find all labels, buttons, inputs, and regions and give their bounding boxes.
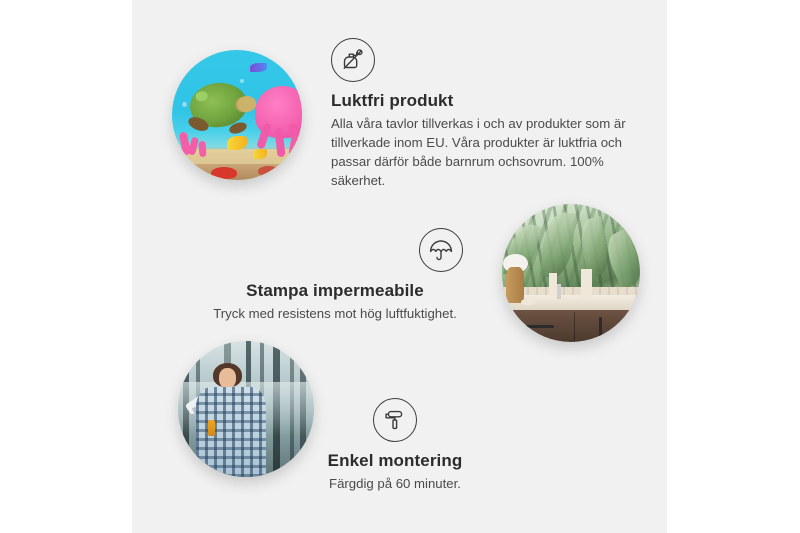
person-plaid-shirt (196, 387, 267, 477)
crab-icon (258, 166, 279, 176)
umbrella-icon (419, 228, 463, 272)
bubble-icon (240, 79, 244, 83)
feature-body: Tryck med resistens mot hög luftfuktighe… (205, 305, 465, 324)
cabinet-handle (599, 317, 602, 338)
soap-dish (521, 299, 536, 305)
paint-roller-icon (373, 398, 417, 442)
person-tool (208, 420, 215, 436)
feature-body: Alla våra tavlor tillverkas i och av pro… (331, 115, 631, 190)
photo-bathroom-circle (502, 204, 640, 342)
sea-floor (172, 164, 302, 180)
feature-mounting: Enkel montering Färgdig på 60 minuter. (265, 398, 525, 494)
towel-roll (549, 273, 557, 296)
vase-icon (506, 267, 524, 303)
fish-blue-icon (250, 63, 267, 72)
cabinet-handle (524, 325, 554, 328)
no-perfume-spray-icon (331, 38, 375, 82)
crab-icon (211, 167, 237, 179)
product-feature-banner: Luktfri produkt Alla våra tavlor tillver… (0, 0, 800, 533)
feature-waterproof: Stampa impermeabile Tryck med resistens … (205, 228, 465, 324)
feature-body: Färgdig på 60 minuter. (265, 475, 525, 494)
person-face (219, 368, 237, 388)
faucet-icon (557, 284, 561, 299)
feature-title: Stampa impermeabile (205, 281, 465, 301)
feature-title: Enkel montering (265, 451, 525, 471)
towel-roll (581, 269, 592, 299)
photo-underwater-circle (172, 50, 302, 180)
feature-title: Luktfri produkt (331, 91, 631, 111)
feature-odourless: Luktfri produkt Alla våra tavlor tillver… (331, 38, 631, 190)
cabinet-seam (574, 312, 576, 342)
